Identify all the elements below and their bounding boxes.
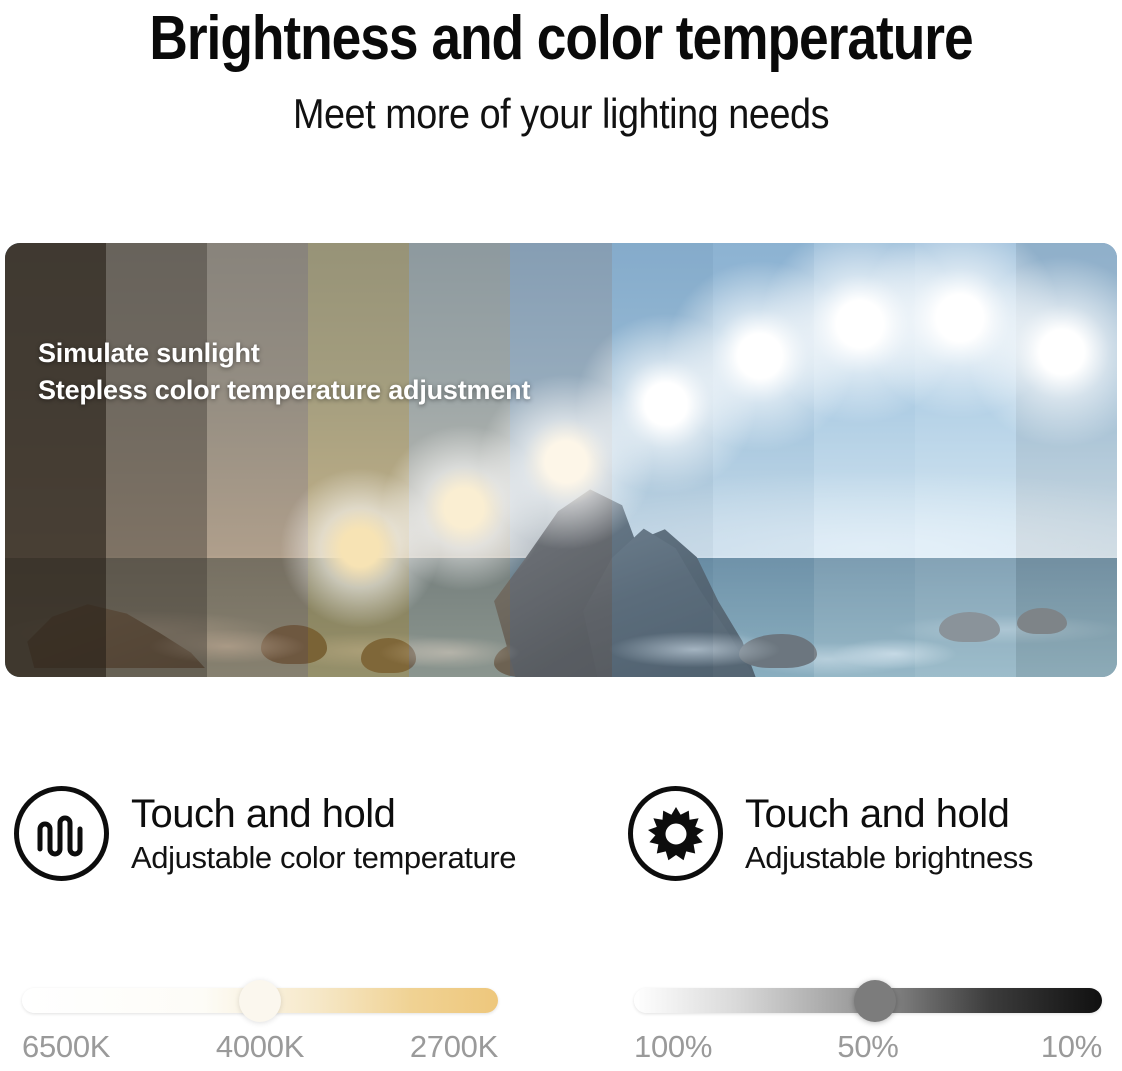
hero-caption: Simulate sunlight Stepless color tempera… [38,335,530,409]
hero-caption-line2: Stepless color temperature adjustment [38,372,530,409]
color-temperature-track[interactable] [22,988,498,1013]
color-temperature-ticks: 6500K 4000K 2700K [22,1027,498,1067]
color-band [308,243,409,677]
color-band [510,243,611,677]
sun-burst-icon [628,786,723,881]
feature-list: Touch and hold Adjustable color temperat… [0,786,1122,906]
page-subtitle: Meet more of your lighting needs [56,88,1066,140]
product-feature-page: Brightness and color temperature Meet mo… [0,0,1122,1071]
tick-label: 10% [1041,1027,1102,1067]
page-title: Brightness and color temperature [79,4,1044,74]
color-band [5,243,106,677]
feature-subtitle: Adjustable brightness [745,838,1033,878]
color-band [814,243,915,677]
tick-label: 4000K [216,1027,304,1067]
brightness-ticks: 100% 50% 10% [634,1027,1102,1067]
tick-label: 50% [837,1027,898,1067]
feature-text: Touch and hold Adjustable brightness [745,790,1033,878]
color-band [713,243,814,677]
feature-text: Touch and hold Adjustable color temperat… [131,790,516,878]
color-band [612,243,713,677]
brightness-track[interactable] [634,988,1102,1013]
feature-subtitle: Adjustable color temperature [131,838,516,878]
wave-icon [14,786,109,881]
feature-brightness: Touch and hold Adjustable brightness [628,786,1033,881]
color-temperature-slider[interactable]: 6500K 4000K 2700K [22,988,498,1067]
tick-label: 2700K [410,1027,498,1067]
tick-label: 100% [634,1027,712,1067]
color-band [915,243,1016,677]
color-band [1016,243,1117,677]
color-band [106,243,207,677]
color-band [409,243,510,677]
brightness-slider[interactable]: 100% 50% 10% [634,988,1102,1067]
hero-image: Simulate sunlight Stepless color tempera… [5,243,1117,677]
color-temperature-knob[interactable] [239,980,281,1022]
hero-caption-line1: Simulate sunlight [38,335,530,372]
tick-label: 6500K [22,1027,110,1067]
feature-color-temperature: Touch and hold Adjustable color temperat… [14,786,516,881]
brightness-knob[interactable] [854,980,896,1022]
color-temperature-bands [5,243,1117,677]
feature-title: Touch and hold [131,790,516,838]
slider-group: 6500K 4000K 2700K 100% 50% 10% [0,988,1122,1071]
color-band [207,243,308,677]
feature-title: Touch and hold [745,790,1033,838]
